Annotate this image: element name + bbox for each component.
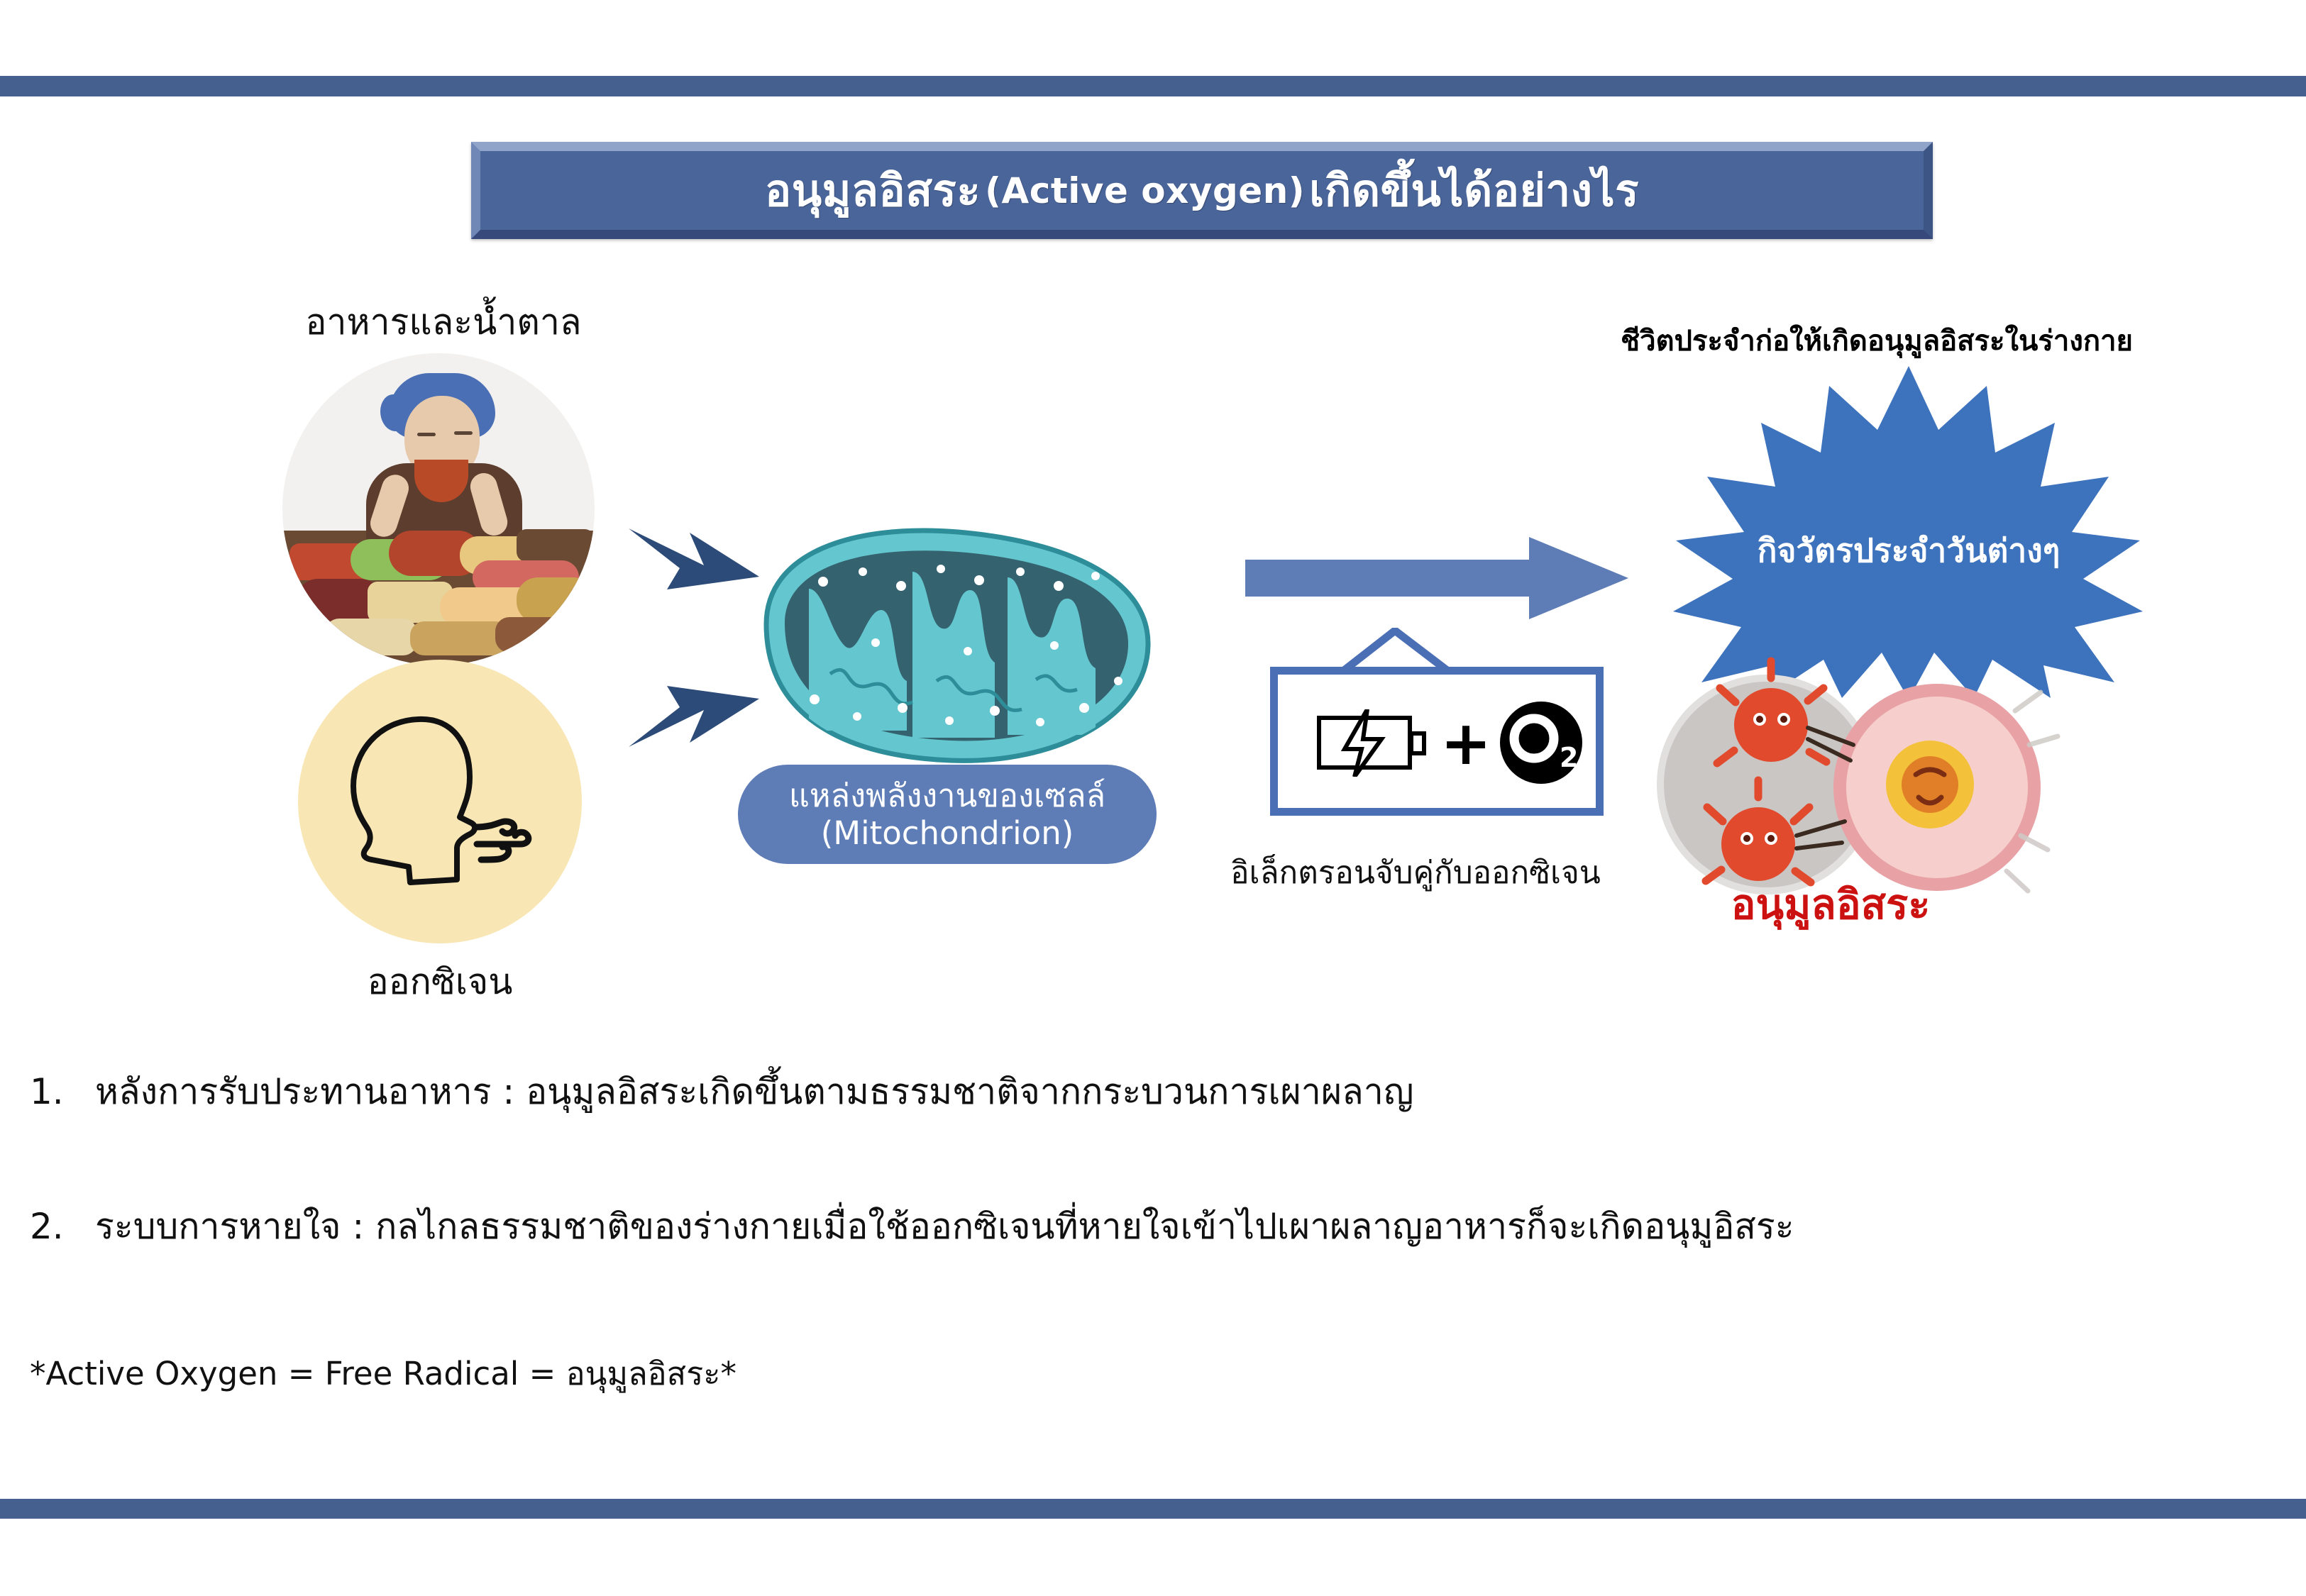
daily-life-heading: ชีวิตประจำก่อให้เกิดอนุมูลอิสระในร่างกาย: [1529, 318, 2224, 363]
mito-label-line2: (Mitochondrion): [821, 814, 1074, 852]
list-item-number: 1.: [30, 1071, 95, 1112]
battery-charging-icon: [1316, 709, 1430, 777]
free-radical-label: อนุมูลอิสระ: [1653, 871, 2008, 937]
oxygen-molecule-icon: 2: [1497, 699, 1586, 787]
arrow-to-daily-life: [1245, 536, 1628, 621]
electron-caption: อิเล็กตรอนจับคู่กับออกซิเจน: [1196, 848, 1635, 897]
list-item-text: หลังการรับประทานอาหาร : อนุมูลอิสระเกิดข…: [95, 1071, 1413, 1112]
plus-sign: +: [1440, 716, 1490, 773]
title-thai-lead: อนุมูลอิสระ: [765, 156, 981, 226]
mitochondrion-label: แหล่งพลังงานของเซลล์ (Mitochondrion): [738, 765, 1157, 864]
starburst-label: กิจวัตรประจำวันต่างๆ: [1689, 525, 2129, 577]
oxygen-photo: [298, 660, 582, 943]
mitochondrion-illustration: [724, 504, 1178, 787]
list-item: 2.ระบบการหายใจ : กลไกลธรรมชาติของร่างกาย…: [30, 1199, 1794, 1255]
bottom-accent-bar: [0, 1499, 2306, 1519]
list-item-number: 2.: [30, 1206, 95, 1247]
mito-label-line1: แหล่งพลังงานของเซลล์: [789, 777, 1105, 814]
list-item-text: ระบบการหายใจ : กลไกลธรรมชาติของร่างกายเม…: [95, 1206, 1794, 1247]
footnote: *Active Oxygen = Free Radical = อนุมูลอิ…: [30, 1348, 737, 1399]
top-accent-bar: [0, 76, 2306, 96]
page-title: อนุมูลอิสระ (Active oxygen) เกิดขึ้นได้อ…: [480, 151, 1924, 230]
food-label: อาหารและน้ำตาล: [294, 294, 592, 350]
svg-text:2: 2: [1560, 742, 1578, 773]
head-breathing-icon: [335, 709, 548, 894]
title-english: (Active oxygen): [985, 170, 1305, 211]
oxygen-label: ออกซิเจน: [298, 954, 582, 1010]
title-thai-tail: เกิดขึ้นได้อย่างไร: [1309, 156, 1639, 226]
list-item: 1.หลังการรับประทานอาหาร : อนุมูลอิสระเกิ…: [30, 1064, 1413, 1120]
food-photo: [282, 353, 595, 665]
